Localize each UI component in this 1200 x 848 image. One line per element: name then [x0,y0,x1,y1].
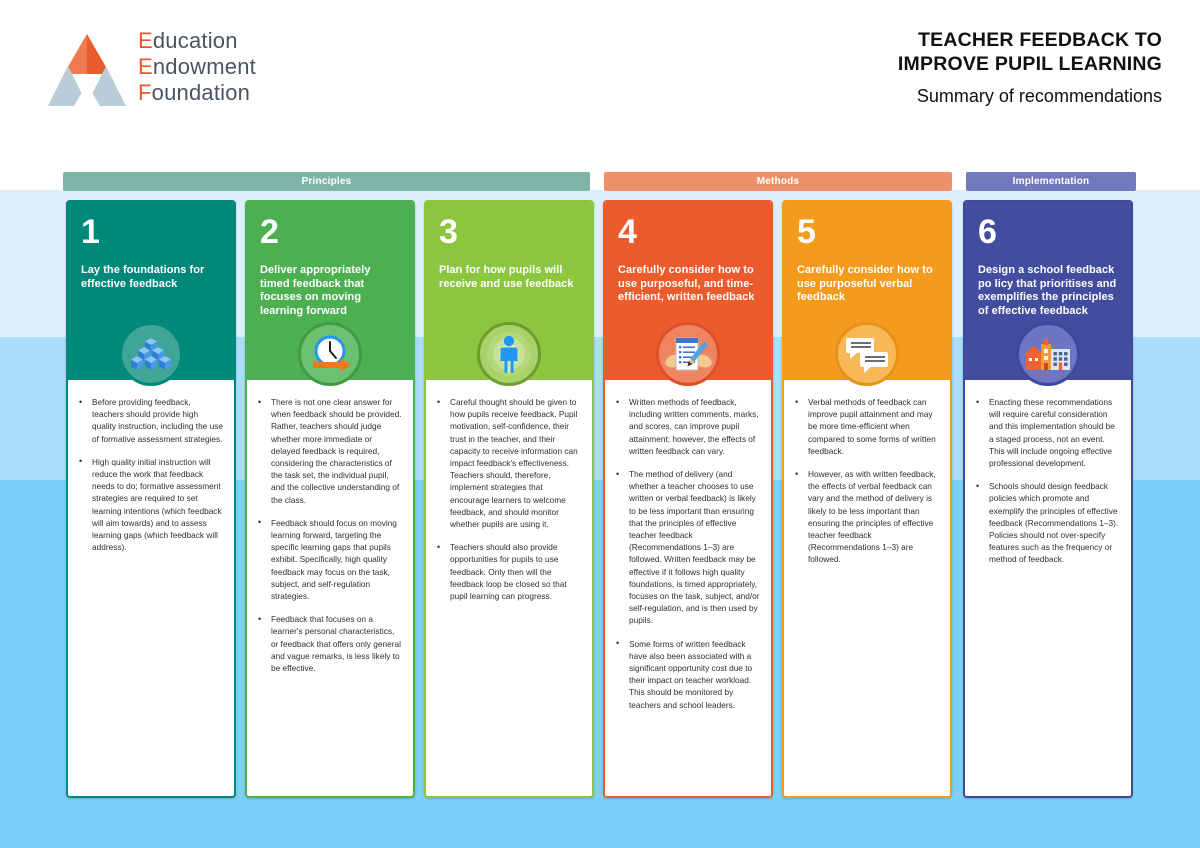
card-2-heading: Deliver appropriately timed feedback tha… [260,264,400,318]
card-5-number: 5 [797,214,937,250]
card-4-body: Written methods of feedback, including w… [605,380,771,796]
card-3-bullet-2: Teachers should also provide opportuniti… [435,541,581,602]
person-icon [477,322,541,386]
card-1-body: Before providing feedback, teachers shou… [68,380,234,796]
card-1-bullet-1: Before providing feedback, teachers shou… [77,396,223,445]
card-4-bullet-2: The method of delivery (and whether a te… [614,468,760,627]
logo-cap-e2: E [138,54,153,79]
card-3-body: Careful thought should be given to how p… [426,380,592,796]
section-header-implementation: Implementation [966,172,1136,191]
card-5-bullet-2: However, as with written feedback, the e… [793,468,939,566]
building-blocks-icon [119,322,183,386]
written-notes-pencil-icon [656,322,720,386]
logo-line-3: Foundation [138,80,256,106]
recommendation-card-6[interactable]: 6 Design a school feedback po licy that … [963,200,1133,798]
recommendation-card-2[interactable]: 2 Deliver appropriately timed feedback t… [245,200,415,798]
card-6-heading: Design a school feedback po licy that pr… [978,264,1118,318]
card-1-heading: Lay the foundations for effective feedba… [81,264,221,291]
page-title-line2: IMPROVE PUPIL LEARNING [898,52,1162,76]
eef-logo: Education Endowment Foundation [48,28,338,114]
section-header-principles: Principles [63,172,590,191]
logo-cap-e1: E [138,28,153,53]
eef-logo-wordmark: Education Endowment Foundation [138,28,256,106]
card-3-heading: Plan for how pupils will receive and use… [439,264,579,291]
card-6-bullet-1: Enacting these recommendations will requ… [974,396,1120,469]
recommendation-card-3[interactable]: 3 Plan for how pupils will receive and u… [424,200,594,798]
clock-arrow-icon [298,322,362,386]
card-4-bullet-1: Written methods of feedback, including w… [614,396,760,457]
section-header-methods: Methods [604,172,952,191]
card-2-number: 2 [260,214,400,250]
logo-rest-1: ducation [153,28,238,53]
logo-line-2: Endowment [138,54,256,80]
card-2-body: There is not one clear answer for when f… [247,380,413,796]
card-3-number: 3 [439,214,579,250]
speech-bubbles-icon [835,322,899,386]
page-title-line1: TEACHER FEEDBACK TO [898,28,1162,52]
infographic-page: Education Endowment Foundation TEACHER F… [0,0,1200,848]
logo-cap-f: F [138,80,152,105]
school-building-icon [1016,322,1080,386]
card-2-bullet-2: Feedback should focus on moving learning… [256,517,402,602]
card-6-body: Enacting these recommendations will requ… [965,380,1131,796]
card-6-number: 6 [978,214,1118,250]
card-5-heading: Carefully consider how to use purposeful… [797,264,937,305]
logo-rest-2: ndowment [153,54,256,79]
card-1-bullet-2: High quality initial instruction will re… [77,456,223,554]
card-3-bullet-1: Careful thought should be given to how p… [435,396,581,530]
eef-logo-mark-icon [48,32,126,108]
card-2-bullet-1: There is not one clear answer for when f… [256,396,402,506]
logo-line-1: Education [138,28,256,54]
card-2-bullet-3: Feedback that focuses on a learner's per… [256,613,402,674]
logo-rest-3: oundation [152,80,250,105]
card-6-bullet-2: Schools should design feedback policies … [974,480,1120,565]
page-header: Education Endowment Foundation TEACHER F… [0,0,1200,140]
card-4-number: 4 [618,214,758,250]
recommendation-card-1[interactable]: 1 Lay the foundations for effective feed… [66,200,236,798]
card-1-number: 1 [81,214,221,250]
page-subtitle: Summary of recommendations [898,83,1162,109]
card-5-body: Verbal methods of feedback can improve p… [784,380,950,796]
title-block: TEACHER FEEDBACK TO IMPROVE PUPIL LEARNI… [898,28,1162,109]
recommendation-card-5[interactable]: 5 Carefully consider how to use purposef… [782,200,952,798]
card-4-bullet-3: Some forms of written feedback have also… [614,638,760,711]
card-5-bullet-1: Verbal methods of feedback can improve p… [793,396,939,457]
card-4-heading: Carefully consider how to use purposeful… [618,264,758,305]
recommendation-card-4[interactable]: 4 Carefully consider how to use purposef… [603,200,773,798]
